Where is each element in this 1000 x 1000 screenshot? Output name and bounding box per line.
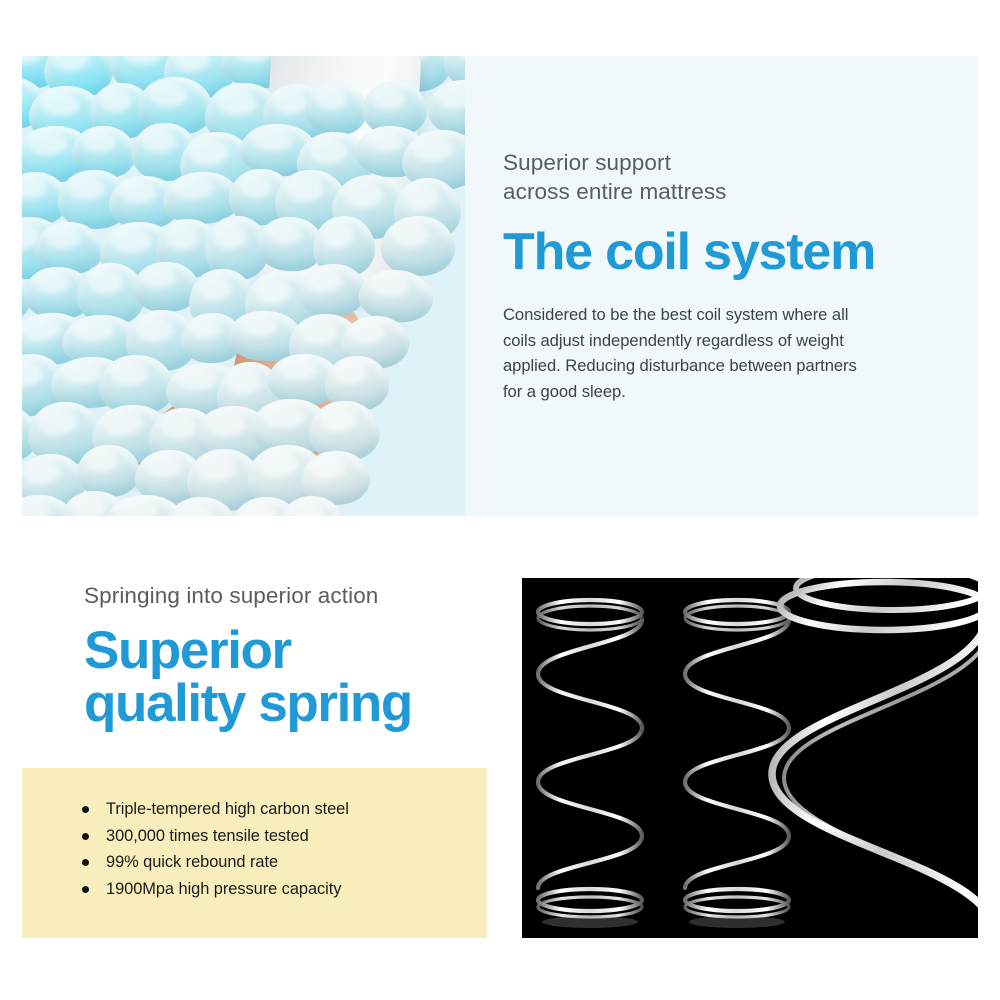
pocket-spring	[76, 444, 140, 498]
pocket-spring	[381, 216, 456, 277]
feature-panel: Triple-tempered high carbon steel300,000…	[22, 768, 487, 938]
spring-coils-graphic	[522, 578, 978, 938]
feature-item: 300,000 times tensile tested	[78, 823, 478, 850]
coil-system-section: Superior support across entire mattress …	[0, 0, 1000, 540]
quality-spring-headline: Superior quality spring	[84, 624, 484, 730]
coil-system-copy: Superior support across entire mattress …	[503, 148, 923, 404]
feature-list: Triple-tempered high carbon steel300,000…	[78, 796, 478, 902]
feature-item: 99% quick rebound rate	[78, 849, 478, 876]
quality-spring-copy: Springing into superior action Superior …	[84, 582, 484, 730]
quality-spring-kicker: Springing into superior action	[84, 582, 484, 610]
feature-item: Triple-tempered high carbon steel	[78, 796, 478, 823]
coil-system-paragraph: Considered to be the best coil system wh…	[503, 302, 875, 404]
feature-item: 1900Mpa high pressure capacity	[78, 876, 478, 903]
spring-photo	[522, 578, 978, 938]
quality-spring-section: Springing into superior action Superior …	[0, 540, 1000, 1000]
coil-system-kicker: Superior support across entire mattress	[503, 148, 923, 206]
mattress-photo	[22, 56, 465, 516]
coil-system-headline: The coil system	[503, 222, 923, 282]
